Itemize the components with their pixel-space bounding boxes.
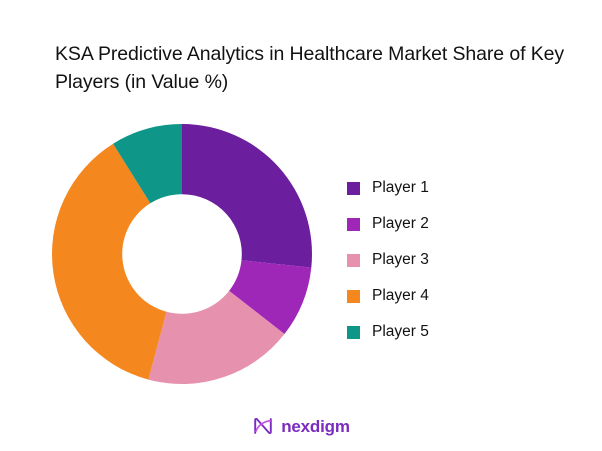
legend-color-swatch <box>347 218 360 231</box>
chart-legend: Player 1Player 2Player 3Player 4Player 5 <box>347 170 527 350</box>
donut-slice-group <box>52 124 312 384</box>
chart-page: KSA Predictive Analytics in Healthcare M… <box>0 0 602 451</box>
legend-item-label: Player 2 <box>372 215 429 233</box>
legend-color-swatch <box>347 290 360 303</box>
legend-color-swatch <box>347 326 360 339</box>
legend-item-label: Player 4 <box>372 287 429 305</box>
legend-item-label: Player 5 <box>372 323 429 341</box>
legend-item[interactable]: Player 4 <box>347 278 527 314</box>
legend-item-label: Player 1 <box>372 179 429 197</box>
donut-chart-svg <box>51 123 313 385</box>
brand-logo: nexdigm <box>0 415 602 437</box>
legend-item-label: Player 3 <box>372 251 429 269</box>
page-title: KSA Predictive Analytics in Healthcare M… <box>55 40 565 96</box>
legend-item[interactable]: Player 3 <box>347 242 527 278</box>
legend-item[interactable]: Player 5 <box>347 314 527 350</box>
donut-chart <box>51 123 313 385</box>
legend-color-swatch <box>347 254 360 267</box>
donut-slice[interactable] <box>182 124 312 268</box>
legend-color-swatch <box>347 182 360 195</box>
legend-item[interactable]: Player 2 <box>347 206 527 242</box>
legend-item[interactable]: Player 1 <box>347 170 527 206</box>
nexdigm-wave-icon <box>252 415 274 437</box>
brand-logo-text: nexdigm <box>281 418 350 435</box>
